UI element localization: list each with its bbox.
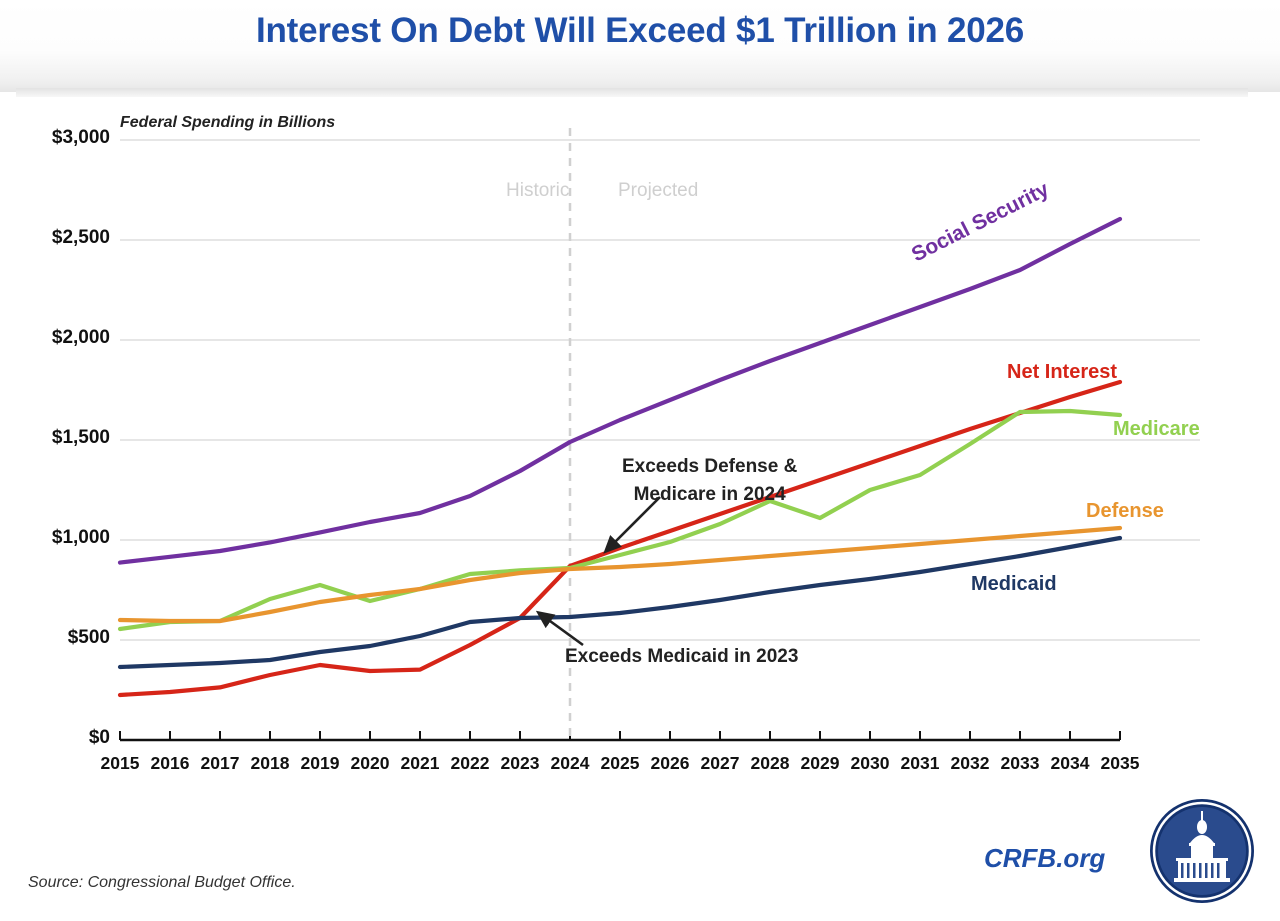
- x-axis-tick-label: 2016: [143, 753, 197, 774]
- series-line-social-security: [120, 219, 1120, 563]
- series-label-net-interest: Net Interest: [1007, 361, 1117, 384]
- x-axis-tick-label: 2031: [893, 753, 947, 774]
- x-axis-tick-label: 2023: [493, 753, 547, 774]
- series-label-medicare: Medicare: [1113, 418, 1200, 441]
- x-axis-tick-label: 2022: [443, 753, 497, 774]
- y-axis-tick-label: $0: [0, 727, 110, 749]
- x-axis-tick-label: 2030: [843, 753, 897, 774]
- annotation-line-2: Medicare in 2024: [622, 481, 797, 509]
- x-axis-tick-label: 2024: [543, 753, 597, 774]
- crfb-capitol-logo: [1148, 797, 1256, 905]
- y-axis-title: Federal Spending in Billions: [120, 114, 335, 132]
- x-axis-tick-label: 2027: [693, 753, 747, 774]
- annotation-exceeds-defense-medicare: Exceeds Defense & Medicare in 2024: [622, 453, 797, 509]
- x-axis-tick-label: 2034: [1043, 753, 1097, 774]
- y-axis-tick-label: $1,500: [0, 427, 110, 449]
- x-axis-tick-label: 2021: [393, 753, 447, 774]
- chart-page: Interest On Debt Will Exceed $1 Trillion…: [0, 0, 1280, 921]
- x-axis-tick-label: 2028: [743, 753, 797, 774]
- x-axis-tick-label: 2029: [793, 753, 847, 774]
- historic-label: Historic: [506, 180, 569, 202]
- brand-text: CRFB.org: [984, 843, 1105, 874]
- x-axis-tick-label: 2025: [593, 753, 647, 774]
- series-label-medicaid: Medicaid: [971, 573, 1057, 596]
- x-axis-tick-label: 2015: [93, 753, 147, 774]
- source-note: Source: Congressional Budget Office.: [28, 874, 296, 892]
- x-axis-tick-label: 2033: [993, 753, 1047, 774]
- y-axis-tick-label: $2,500: [0, 227, 110, 249]
- y-axis-tick-label: $500: [0, 627, 110, 649]
- y-axis-tick-label: $3,000: [0, 127, 110, 149]
- y-axis-tick-label: $2,000: [0, 327, 110, 349]
- annotation-line-1: Exceeds Defense &: [622, 453, 797, 481]
- series-line-medicare: [120, 411, 1120, 629]
- x-axis-tick-label: 2020: [343, 753, 397, 774]
- projected-label: Projected: [618, 180, 698, 202]
- annotation-exceeds-medicaid: Exceeds Medicaid in 2023: [565, 646, 798, 668]
- x-axis-tick-label: 2026: [643, 753, 697, 774]
- x-axis-tick-label: 2019: [293, 753, 347, 774]
- x-axis-tick-label: 2018: [243, 753, 297, 774]
- x-axis-tick-label: 2032: [943, 753, 997, 774]
- series-label-defense: Defense: [1086, 500, 1164, 523]
- y-axis-tick-label: $1,000: [0, 527, 110, 549]
- x-axis-tick-label: 2017: [193, 753, 247, 774]
- x-axis-tick-label: 2035: [1093, 753, 1147, 774]
